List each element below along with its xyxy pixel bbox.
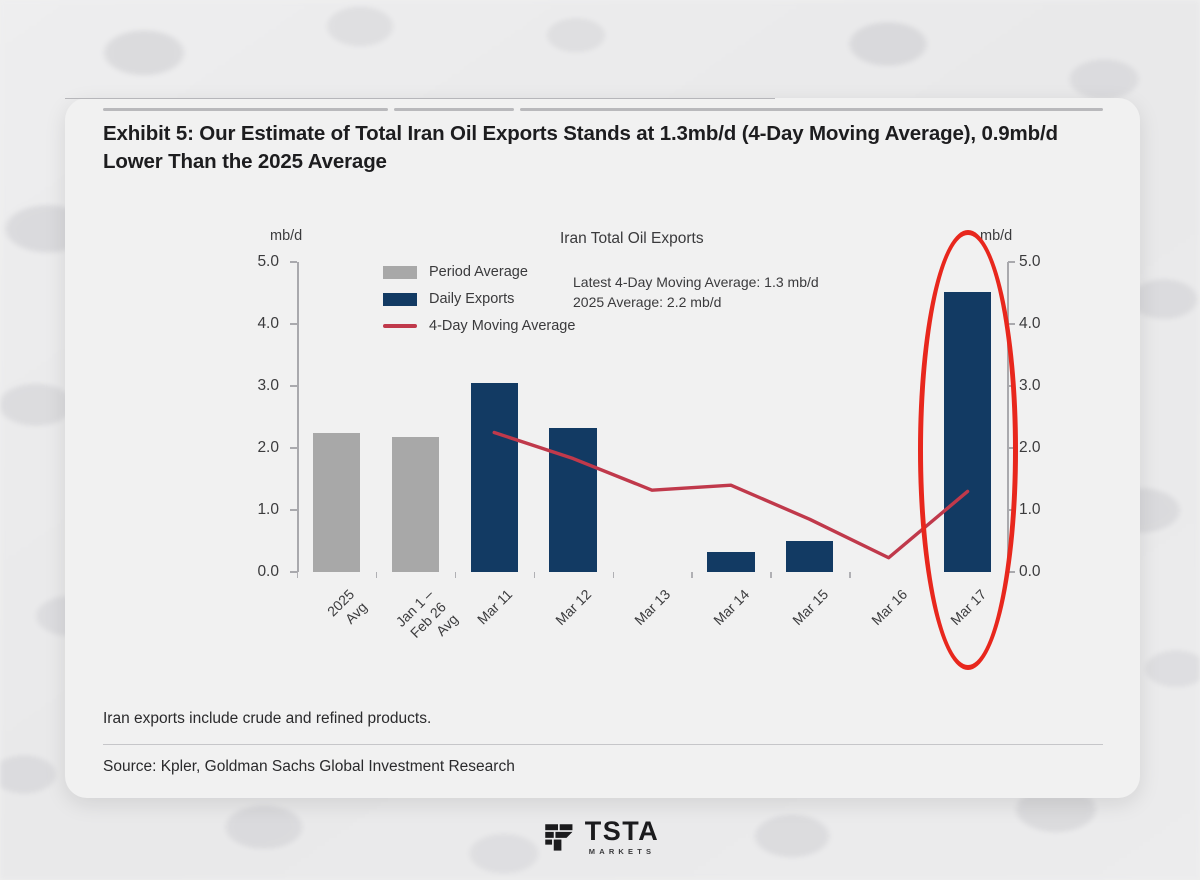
plot-elements: 0.01.02.03.04.05.00.01.02.03.04.05.02025… [65,98,1140,99]
chart-canvas: mb/d mb/d Iran Total Oil Exports Latest … [65,98,1140,798]
brand-logo: TSTA MARKETS [0,818,1200,856]
brand-text: TSTA MARKETS [585,818,660,856]
brand-tagline: MARKETS [585,848,660,856]
footer-divider [103,744,1103,745]
highlight-ellipse [918,230,1018,670]
source-line: Source: Kpler, Goldman Sachs Global Inve… [103,758,515,776]
brand-wordmark: TSTA [585,818,660,845]
chart-footnote: Iran exports include crude and refined p… [103,710,431,728]
exhibit-card: Exhibit 5: Our Estimate of Total Iran Oi… [65,98,1140,798]
tsta-monogram-icon [541,820,575,854]
